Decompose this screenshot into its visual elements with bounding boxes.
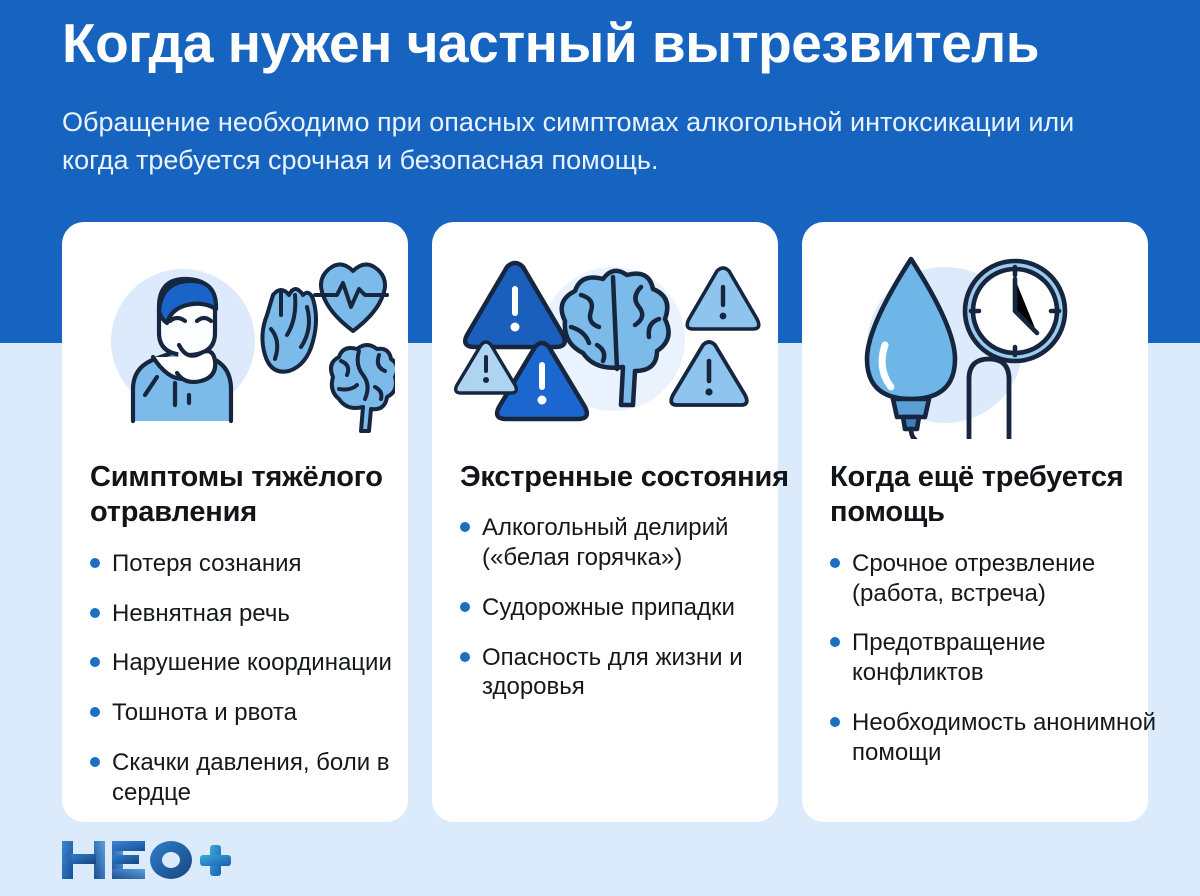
list-item-label: Скачки давления, боли в сердце	[112, 749, 390, 806]
list-item: Нарушение координации	[88, 648, 418, 678]
neo-plus-logo	[58, 838, 238, 882]
card-3-title: Когда ещё требуется помощь	[830, 460, 1160, 531]
bullet-dot-icon	[90, 707, 100, 717]
card-emergency-conditions: Экстренные состояния Алкогольный делирий…	[432, 222, 778, 822]
bullet-dot-icon	[90, 657, 100, 667]
bullet-dot-icon	[460, 652, 470, 662]
card-severe-poisoning: Симптомы тяжёлого отравления Потеря созн…	[62, 222, 408, 822]
logo-letter-e	[112, 841, 145, 879]
list-item: Предотвращение конфликтов	[828, 628, 1158, 688]
list-item: Необходимость анонимной помощи	[828, 708, 1158, 768]
bullet-dot-icon	[90, 608, 100, 618]
bullet-dot-icon	[460, 522, 470, 532]
list-item: Опасность для жизни и здоровья	[458, 643, 788, 703]
card-2-illustration	[432, 244, 778, 444]
warning-triangle-icon	[456, 342, 517, 393]
logo-letter-o	[150, 841, 192, 879]
list-item: Скачки давления, боли в сердце	[88, 748, 418, 808]
cards-row: Симптомы тяжёлого отравления Потеря созн…	[62, 222, 1138, 822]
page-subtitle: Обращение необходимо при опасных симптом…	[62, 103, 1112, 180]
card-1-illustration	[62, 244, 408, 444]
logo-mark	[58, 837, 238, 883]
clock-icon	[965, 261, 1065, 361]
list-item: Потеря сознания	[88, 549, 418, 579]
list-item-label: Срочное отрезвление (работа, встреча)	[852, 550, 1095, 607]
list-item-label: Необходимость анонимной помощи	[852, 709, 1156, 766]
bullet-dot-icon	[90, 558, 100, 568]
list-item: Срочное отрезвление (работа, встреча)	[828, 549, 1158, 609]
list-item: Невнятная речь	[88, 599, 418, 629]
logo-letter-n	[62, 841, 105, 879]
brain-icon	[331, 345, 395, 431]
list-item-label: Алкогольный делирий («белая горячка»)	[482, 514, 728, 571]
page-title: Когда нужен частный вытрезвитель	[62, 14, 1162, 73]
bullet-dot-icon	[830, 558, 840, 568]
card-3-bullet-list: Срочное отрезвление (работа, встреча) Пр…	[828, 549, 1158, 768]
warning-triangle-icon	[687, 268, 759, 329]
list-item-label: Предотвращение конфликтов	[852, 629, 1046, 686]
infographic-page: Когда нужен частный вытрезвитель Обращен…	[0, 0, 1200, 896]
card-1-title: Симптомы тяжёлого отравления	[90, 460, 420, 531]
list-item-label: Потеря сознания	[112, 550, 302, 577]
list-item-label: Нарушение координации	[112, 649, 392, 676]
card-2-bullet-list: Алкогольный делирий («белая горячка») Су…	[458, 513, 788, 702]
list-item-label: Тошнота и рвота	[112, 699, 297, 726]
card-3-illustration	[802, 244, 1148, 444]
card-2-title: Экстренные состояния	[460, 460, 790, 495]
heart-pulse-icon	[315, 264, 387, 331]
card-1-bullet-list: Потеря сознания Невнятная речь Нарушение…	[88, 549, 418, 808]
list-item-label: Судорожные припадки	[482, 594, 735, 621]
anatomical-heart-icon	[262, 289, 316, 372]
list-item: Алкогольный делирий («белая горячка»)	[458, 513, 788, 573]
bullet-dot-icon	[460, 602, 470, 612]
bullet-dot-icon	[90, 757, 100, 767]
list-item-label: Опасность для жизни и здоровья	[482, 644, 743, 701]
card-other-help: Когда ещё требуется помощь Срочное отрез…	[802, 222, 1148, 822]
logo-plus-icon	[200, 845, 231, 876]
list-item-label: Невнятная речь	[112, 600, 290, 627]
list-item: Тошнота и рвота	[88, 698, 418, 728]
list-item: Судорожные припадки	[458, 593, 788, 623]
bullet-dot-icon	[830, 637, 840, 647]
bullet-dot-icon	[830, 717, 840, 727]
